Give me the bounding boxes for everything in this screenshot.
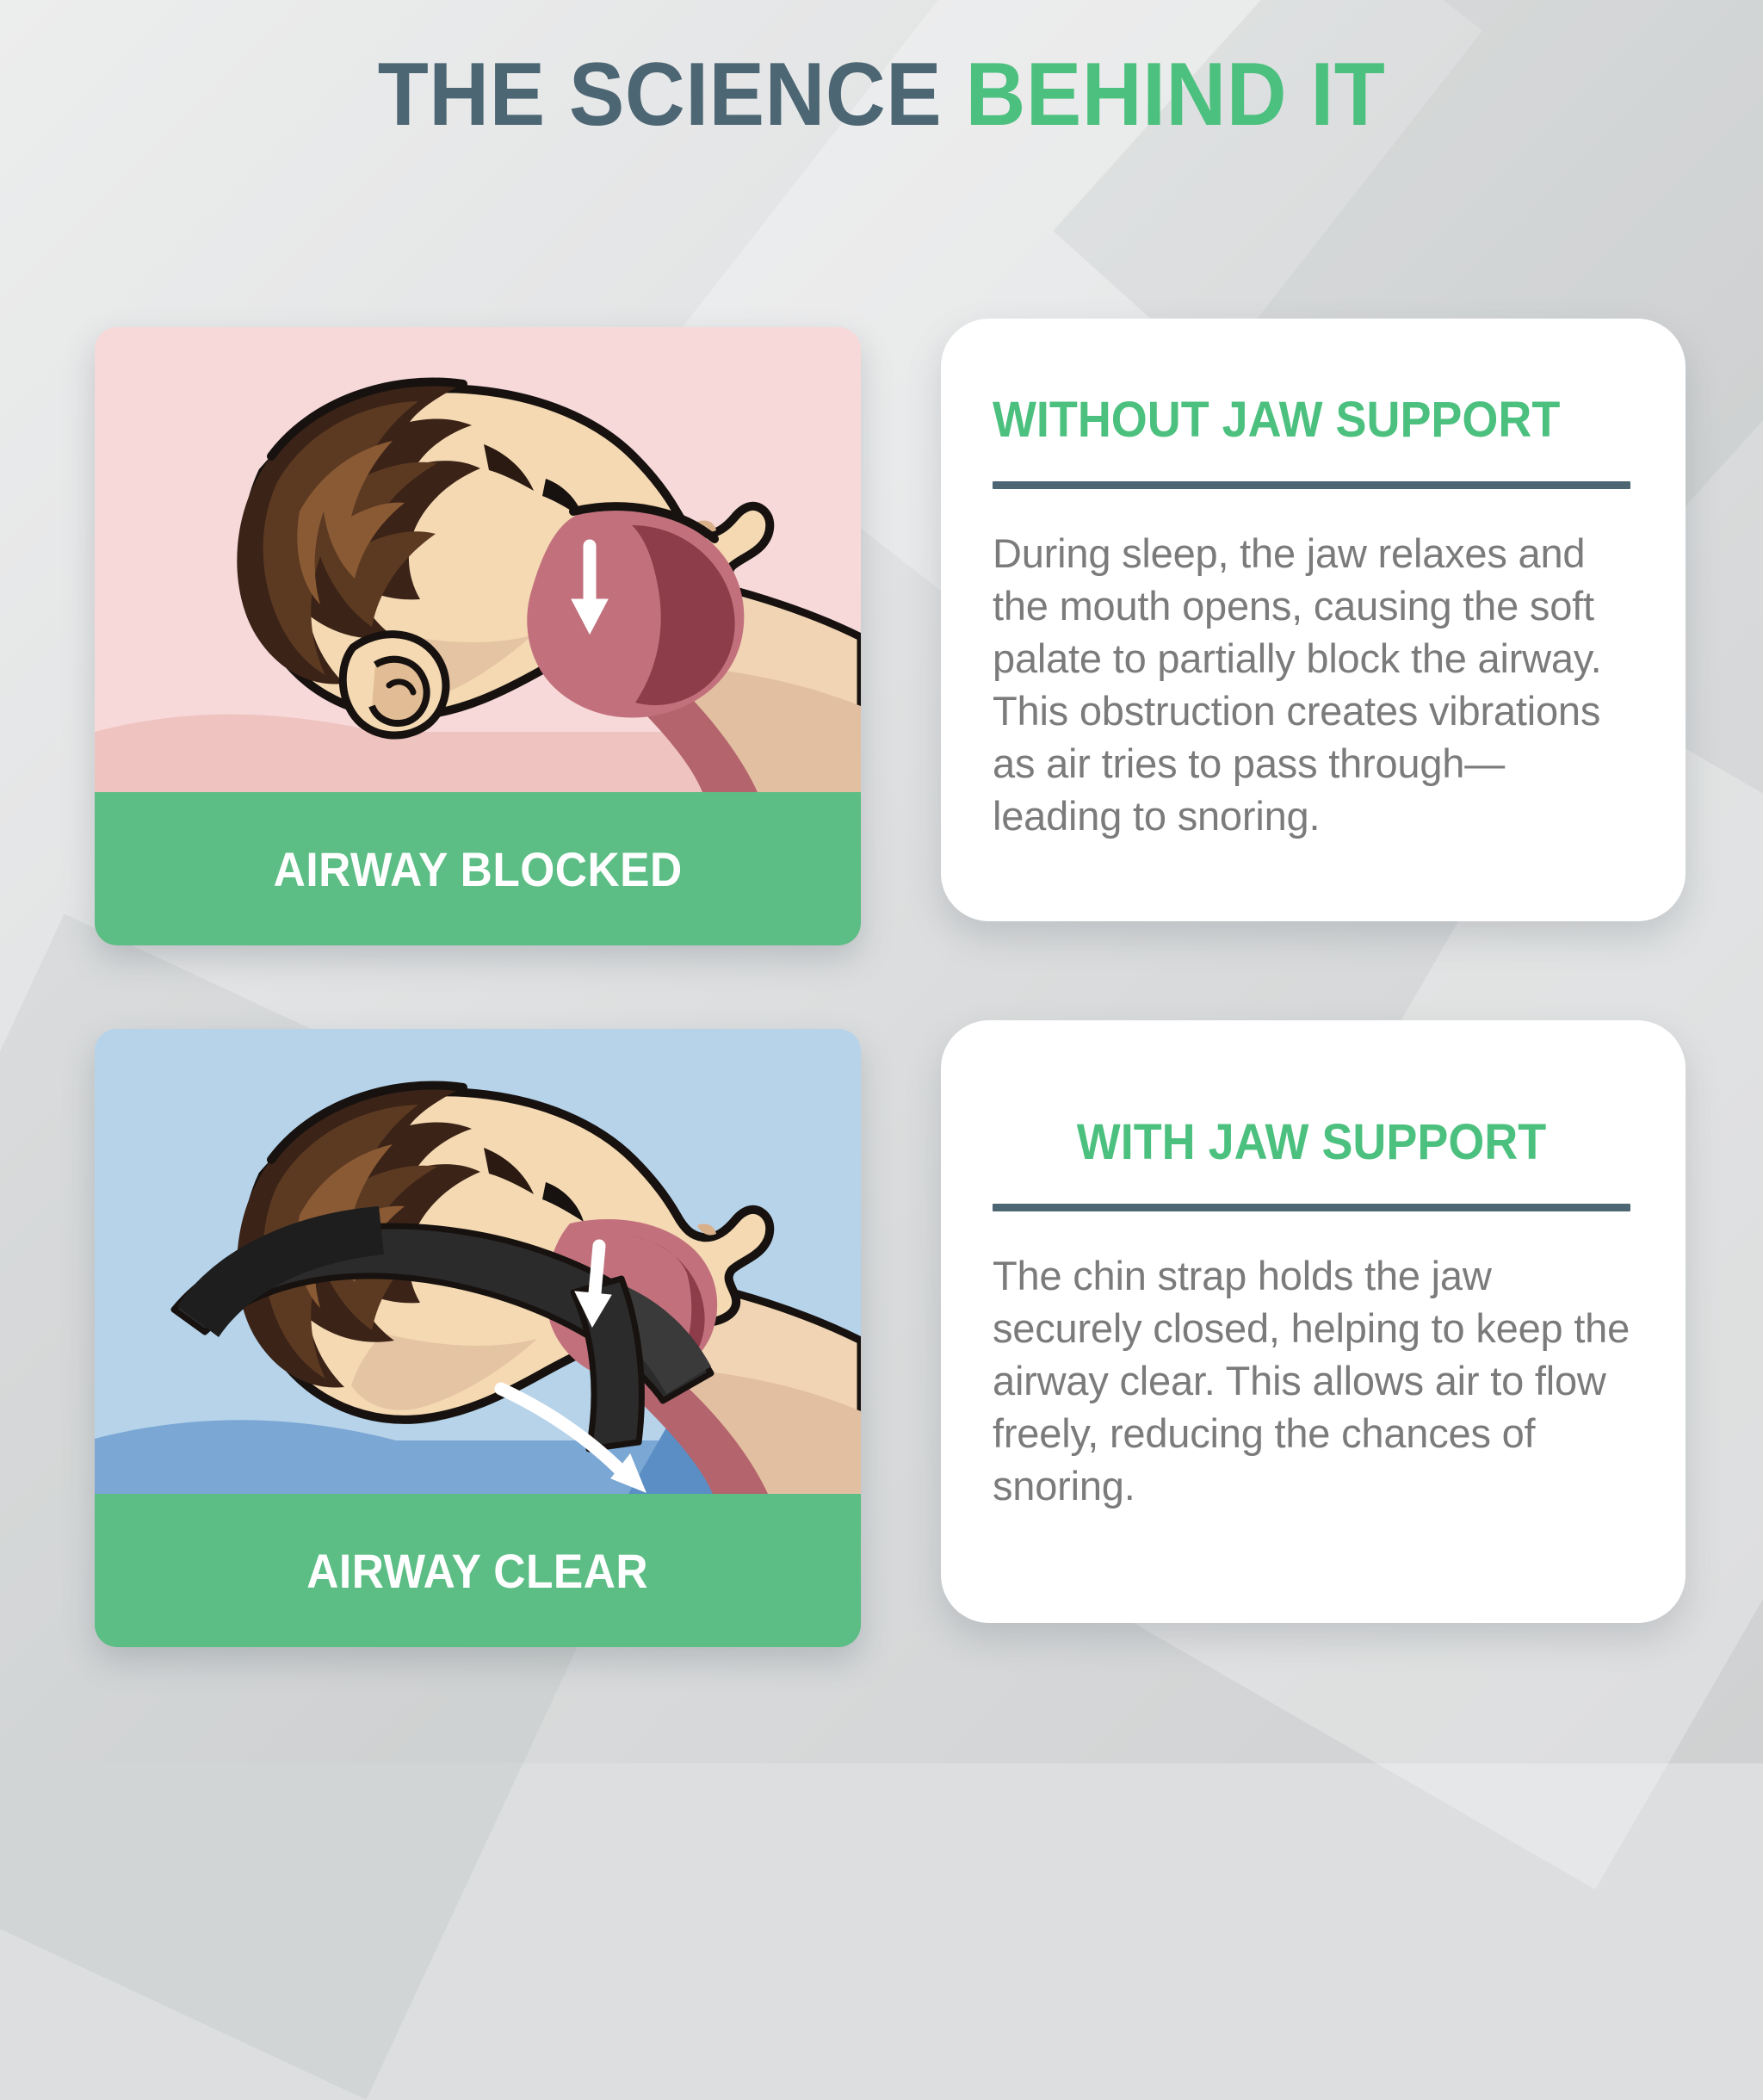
card-body-without-jaw-support: During sleep, the jaw relaxes and the mo… [993, 527, 1630, 843]
illustration-label-blocked: AIRWAY BLOCKED [274, 841, 683, 897]
section-with-jaw-support: AIRWAY CLEAR WITH JAW SUPPORT The chin s… [0, 1020, 1763, 1657]
section-without-jaw-support: AIRWAY BLOCKED WITHOUT JAW SUPPORT Durin… [0, 319, 1763, 956]
page-title-part2: BEHIND IT [965, 45, 1385, 145]
card-heading-with-jaw-support: WITH JAW SUPPORT [1015, 1113, 1608, 1171]
illustration-airway-clear [95, 1029, 861, 1494]
card-divider [993, 1204, 1630, 1211]
airway-blocked-svg [95, 327, 861, 792]
illustration-label-band-clear: AIRWAY CLEAR [95, 1494, 861, 1647]
illustration-airway-blocked [95, 327, 861, 792]
card-body-with-jaw-support: The chin strap holds the jaw securely cl… [993, 1249, 1630, 1512]
page-title-part1: THE SCIENCE [378, 45, 966, 145]
illustration-card-airway-clear: AIRWAY CLEAR [95, 1029, 861, 1647]
page-title: THE SCIENCE BEHIND IT [62, 50, 1702, 139]
illustration-card-airway-blocked: AIRWAY BLOCKED [95, 327, 861, 945]
info-card-with-jaw-support: WITH JAW SUPPORT The chin strap holds th… [941, 1020, 1686, 1623]
card-divider [993, 481, 1630, 489]
airway-clear-svg [95, 1029, 861, 1494]
illustration-label-band-blocked: AIRWAY BLOCKED [95, 792, 861, 945]
card-heading-without-jaw-support: WITHOUT JAW SUPPORT [993, 391, 1586, 449]
info-card-without-jaw-support: WITHOUT JAW SUPPORT During sleep, the ja… [941, 319, 1686, 921]
illustration-label-clear: AIRWAY CLEAR [307, 1543, 649, 1599]
